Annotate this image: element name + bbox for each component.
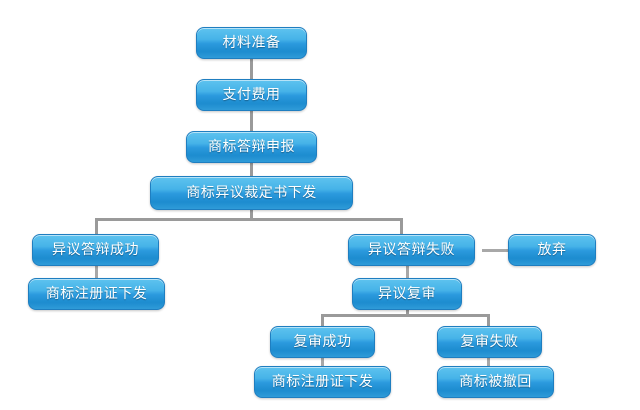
node-mark-withdrawn[interactable]: 商标被撤回 xyxy=(437,366,554,398)
node-review[interactable]: 异议复审 xyxy=(352,278,462,310)
node-file-defense[interactable]: 商标答辩申报 xyxy=(186,131,317,163)
connector-filedefense-to-ruling xyxy=(250,163,253,176)
node-review-fail-label: 复审失败 xyxy=(461,335,519,350)
connector-review-to-reviewsuccess xyxy=(321,314,324,326)
node-material-label: 材料准备 xyxy=(223,36,281,51)
connector-payfee-to-filedefense xyxy=(250,111,253,131)
node-pay-fee[interactable]: 支付费用 xyxy=(196,79,307,111)
node-defense-fail-label: 异议答辩失败 xyxy=(368,243,455,258)
node-cert-issued-2[interactable]: 商标注册证下发 xyxy=(254,366,391,398)
node-ruling-issued[interactable]: 商标异议裁定书下发 xyxy=(150,176,353,210)
connector-ruling-bus xyxy=(95,218,403,221)
node-cert-issued-2-label: 商标注册证下发 xyxy=(272,375,374,390)
node-defense-fail[interactable]: 异议答辩失败 xyxy=(348,234,475,266)
connector-reviewfail-to-withdrawn xyxy=(487,358,490,366)
node-abandon-label: 放弃 xyxy=(538,243,567,258)
connector-defensesuccess-to-cert xyxy=(95,266,98,278)
flowchart-canvas: 材料准备 支付费用 商标答辩申报 商标异议裁定书下发 异议答辩成功 异议答辩失败… xyxy=(0,0,640,410)
node-review-fail[interactable]: 复审失败 xyxy=(437,326,542,358)
connector-defensefail-to-review xyxy=(406,266,409,278)
connector-ruling-to-defensesuccess xyxy=(95,218,98,234)
connector-defensefail-to-abandon xyxy=(482,249,508,252)
node-defense-success-label: 异议答辩成功 xyxy=(52,243,139,258)
node-material[interactable]: 材料准备 xyxy=(196,27,307,59)
node-file-defense-label: 商标答辩申报 xyxy=(208,140,295,155)
node-defense-success[interactable]: 异议答辩成功 xyxy=(32,234,159,266)
connector-material-to-payfee xyxy=(250,59,253,79)
node-review-success[interactable]: 复审成功 xyxy=(270,326,375,358)
node-cert-issued-1-label: 商标注册证下发 xyxy=(46,287,148,302)
node-pay-fee-label: 支付费用 xyxy=(223,88,281,103)
connector-review-to-reviewfail xyxy=(487,314,490,326)
node-cert-issued-1[interactable]: 商标注册证下发 xyxy=(28,278,165,310)
node-mark-withdrawn-label: 商标被撤回 xyxy=(459,375,532,390)
node-review-label: 异议复审 xyxy=(378,287,436,302)
connector-review-bus xyxy=(321,314,490,317)
node-review-success-label: 复审成功 xyxy=(294,335,352,350)
node-abandon[interactable]: 放弃 xyxy=(508,234,596,266)
connector-reviewsuccess-to-cert xyxy=(321,358,324,366)
node-ruling-issued-label: 商标异议裁定书下发 xyxy=(186,186,317,201)
connector-ruling-to-defensefail xyxy=(400,218,403,234)
